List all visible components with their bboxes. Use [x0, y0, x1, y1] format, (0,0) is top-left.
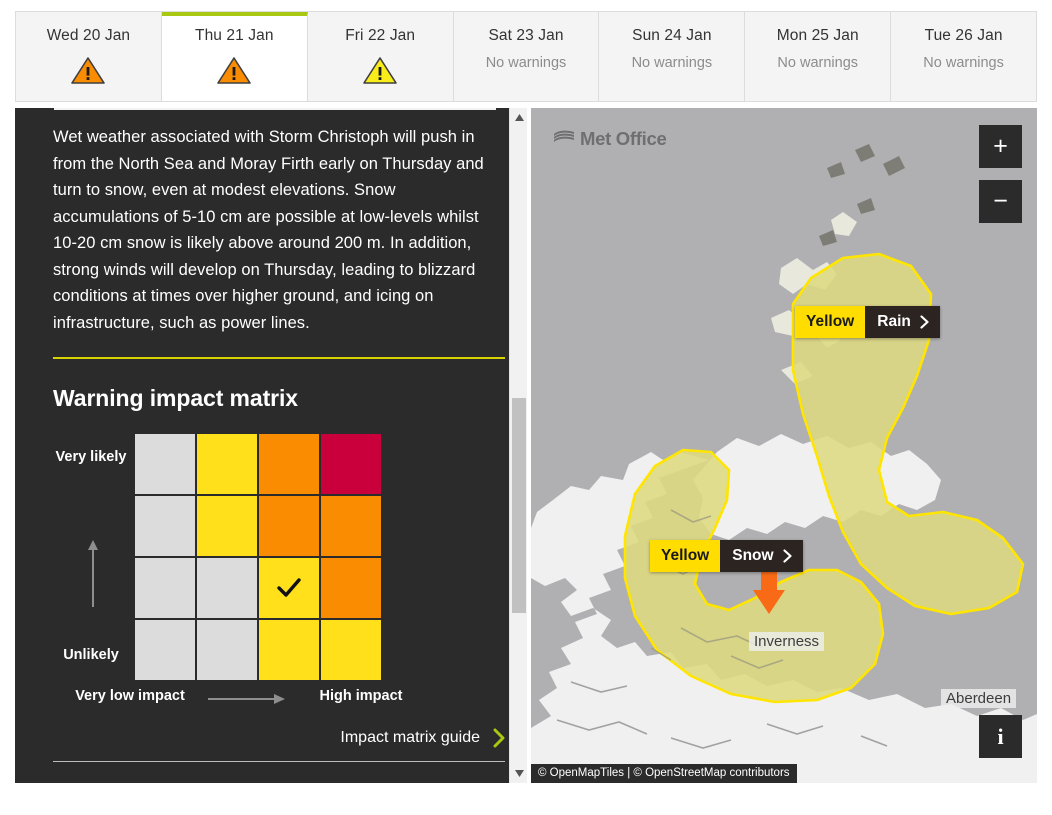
tab-sun-24-jan[interactable]: Sun 24 Jan No warnings: [599, 12, 745, 101]
warning-severity-badge: Yellow: [650, 540, 720, 572]
tab-wed-20-jan[interactable]: Wed 20 Jan: [16, 12, 162, 101]
tab-fri-22-jan[interactable]: Fri 22 Jan: [308, 12, 454, 101]
impact-matrix-heading: Warning impact matrix: [53, 385, 485, 412]
met-office-wave-icon: [553, 130, 575, 149]
matrix-cell[interactable]: [135, 620, 195, 680]
matrix-x-axis-right-label: High impact: [306, 687, 416, 706]
matrix-cell[interactable]: [197, 496, 257, 556]
tab-thu-21-jan[interactable]: Thu 21 Jan: [162, 12, 308, 101]
snow-warning-pill[interactable]: Yellow Snow: [650, 540, 803, 572]
matrix-cell[interactable]: [197, 558, 257, 618]
matrix-x-axis-left-label: Very low impact: [75, 687, 185, 706]
matrix-cell[interactable]: [135, 434, 195, 494]
right-arrow-icon: [208, 692, 286, 706]
tab-label: Sat 23 Jan: [488, 28, 563, 44]
matrix-cell[interactable]: [197, 620, 257, 680]
matrix-cell[interactable]: [197, 434, 257, 494]
matrix-cell[interactable]: [321, 620, 381, 680]
warning-triangle-icon: [363, 56, 397, 85]
day-tabstrip: Wed 20 Jan Thu 21 Jan Fri 22 Jan Sat 23 …: [15, 11, 1037, 102]
matrix-cell[interactable]: [135, 496, 195, 556]
met-office-warnings-app: Wed 20 Jan Thu 21 Jan Fri 22 Jan Sat 23 …: [0, 0, 1052, 815]
main-content: Wet weather associated with Storm Christ…: [15, 108, 1037, 783]
warning-triangle-icon: [71, 56, 105, 85]
met-office-brand-text: Met Office: [580, 128, 666, 150]
scroll-up-icon[interactable]: [510, 109, 527, 126]
tab-tue-26-jan[interactable]: Tue 26 Jan No warnings: [891, 12, 1036, 101]
matrix-cell[interactable]: [259, 434, 319, 494]
tab-label: Wed 20 Jan: [47, 28, 130, 44]
zoom-in-button[interactable]: +: [979, 125, 1022, 168]
warning-triangle-icon: [217, 56, 251, 85]
warning-type-button[interactable]: Rain: [865, 306, 940, 338]
chevron-right-icon: [783, 549, 792, 563]
city-label-aberdeen: Aberdeen: [941, 689, 1016, 708]
matrix-cell[interactable]: [321, 434, 381, 494]
no-warnings-text: No warnings: [777, 56, 858, 71]
matrix-cell[interactable]: [321, 558, 381, 618]
impact-matrix: Very likely Unlikely: [53, 434, 505, 724]
tab-label: Thu 21 Jan: [195, 28, 274, 44]
matrix-cell-selected[interactable]: [259, 558, 319, 618]
matrix-y-axis-top-label: Very likely: [53, 448, 129, 467]
warning-type-button[interactable]: Snow: [720, 540, 802, 572]
rain-warning-pill[interactable]: Yellow Rain: [795, 306, 940, 338]
yellow-divider: [53, 357, 505, 359]
map-attribution[interactable]: © OpenMapTiles | © OpenStreetMap contrib…: [531, 764, 797, 783]
no-warnings-text: No warnings: [923, 56, 1004, 71]
warning-type-label: Snow: [732, 547, 773, 565]
warning-detail-panel: Wet weather associated with Storm Christ…: [15, 108, 527, 783]
warning-type-label: Rain: [877, 313, 911, 331]
met-office-logo: Met Office: [553, 128, 666, 150]
matrix-cell[interactable]: [135, 558, 195, 618]
impact-matrix-guide-link[interactable]: Impact matrix guide: [53, 728, 505, 748]
warning-description: Wet weather associated with Storm Christ…: [53, 124, 485, 336]
panel-vertical-scrollbar[interactable]: [509, 108, 527, 783]
chevron-right-icon: [492, 728, 505, 748]
no-warnings-text: No warnings: [632, 56, 713, 71]
city-label-inverness: Inverness: [749, 632, 824, 651]
warning-severity-badge: Yellow: [795, 306, 865, 338]
map-info-button[interactable]: i: [979, 715, 1022, 758]
tab-label: Mon 25 Jan: [777, 28, 859, 44]
tab-mon-25-jan[interactable]: Mon 25 Jan No warnings: [745, 12, 891, 101]
matrix-grid: [135, 434, 381, 680]
scrollbar-thumb[interactable]: [512, 398, 526, 613]
matrix-cell[interactable]: [259, 620, 319, 680]
scroll-down-icon[interactable]: [510, 765, 527, 782]
check-icon: [274, 573, 304, 603]
zoom-out-button[interactable]: −: [979, 180, 1022, 223]
chevron-right-icon: [920, 315, 929, 329]
matrix-y-axis-bottom-label: Unlikely: [53, 646, 129, 665]
map-canvas: [531, 108, 1037, 783]
no-warnings-text: No warnings: [486, 56, 567, 71]
guide-link-label: Impact matrix guide: [340, 729, 480, 747]
panel-scroll-content: Wet weather associated with Storm Christ…: [15, 110, 509, 783]
matrix-cell[interactable]: [259, 496, 319, 556]
matrix-cell[interactable]: [321, 496, 381, 556]
tab-label: Sun 24 Jan: [632, 28, 711, 44]
up-arrow-icon: [87, 539, 99, 609]
tab-sat-23-jan[interactable]: Sat 23 Jan No warnings: [454, 12, 600, 101]
map-zoom-controls: + −: [979, 125, 1022, 223]
white-divider: [53, 761, 505, 762]
tab-label: Tue 26 Jan: [925, 28, 1003, 44]
warning-map[interactable]: Met Office + − i Yellow Rain Yellow Snow: [531, 108, 1037, 783]
tab-label: Fri 22 Jan: [345, 28, 415, 44]
